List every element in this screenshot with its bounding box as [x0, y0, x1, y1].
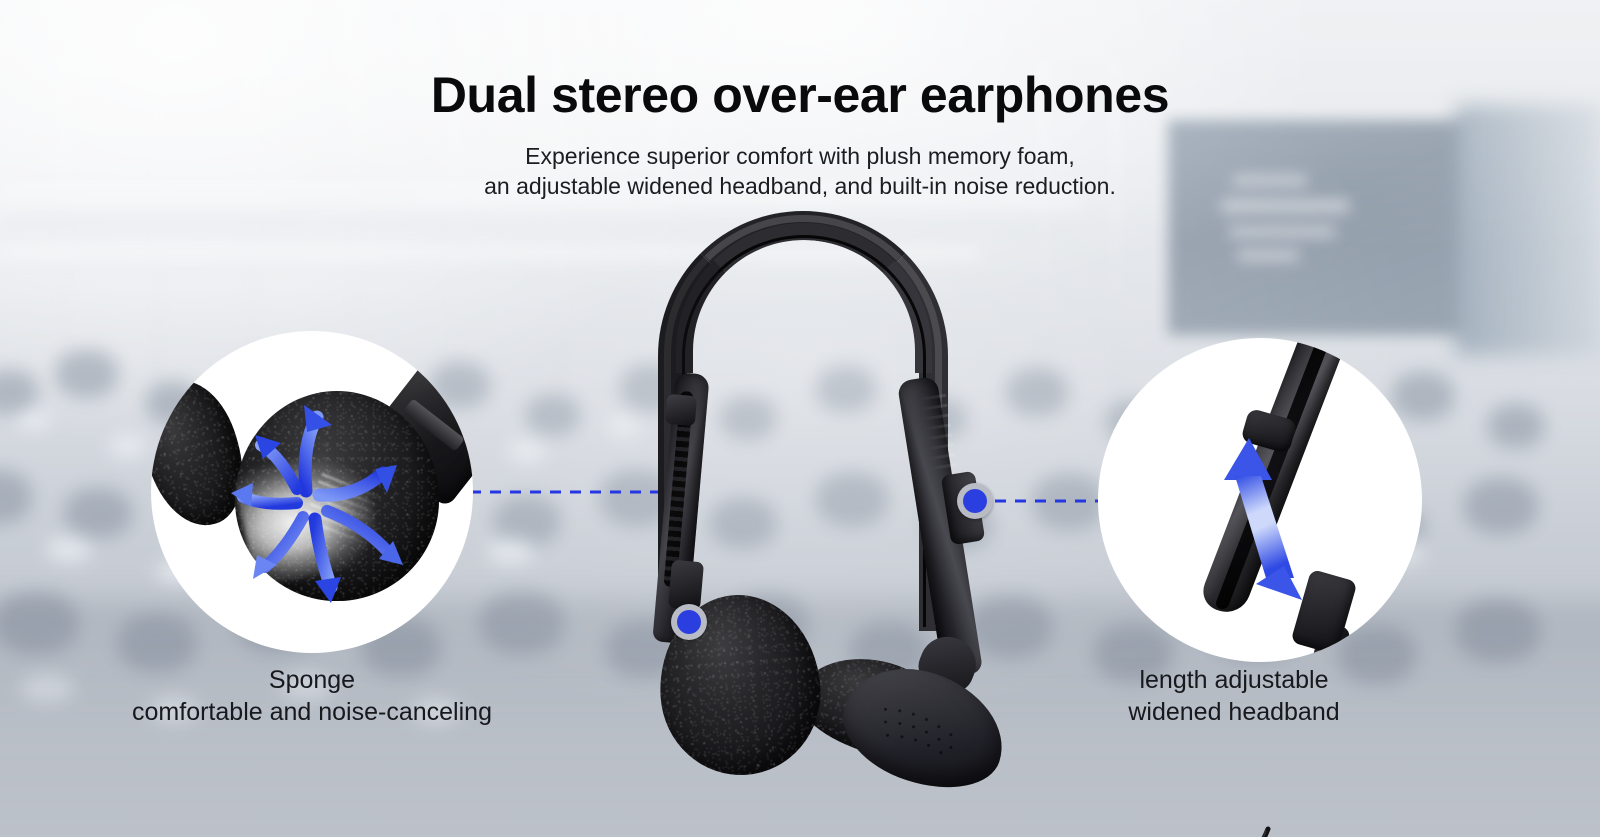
- callout-circle-headband: [1098, 338, 1422, 662]
- arrow-up-head: [1224, 438, 1272, 480]
- promo-banner: Dual stereo over-ear earphones Experienc…: [0, 0, 1600, 837]
- airflow-arrow-bottom: [315, 519, 341, 603]
- caption-headband-line-2: widened headband: [1128, 696, 1339, 728]
- airflow-arrow-right: [319, 465, 397, 495]
- airflow-arrow-bottom-left: [253, 517, 303, 579]
- arrow-down-head: [1256, 566, 1302, 600]
- airflow-arrow-top: [304, 405, 332, 491]
- caption-sponge-line-1: Sponge: [132, 664, 492, 696]
- subtitle-line-2: an adjustable widened headband, and buil…: [0, 171, 1600, 201]
- callout-circle-sponge: [151, 331, 473, 653]
- headband-seam: [682, 235, 926, 627]
- airflow-arrows: [151, 331, 473, 653]
- arrow-shaft: [1235, 476, 1294, 578]
- headband-arm-left-clip-top: [665, 394, 698, 427]
- airflow-arrow-left: [231, 483, 297, 507]
- caption-sponge-line-2: comfortable and noise-canceling: [132, 696, 492, 728]
- caption-headband: length adjustable widened headband: [1128, 664, 1339, 728]
- airflow-arrow-top-left: [255, 435, 297, 489]
- page-title: Dual stereo over-ear earphones: [0, 66, 1600, 124]
- caption-headband-line-1: length adjustable: [1128, 664, 1339, 696]
- subtitle-line-1: Experience superior comfort with plush m…: [0, 141, 1600, 171]
- page-subtitle: Experience superior comfort with plush m…: [0, 141, 1600, 201]
- caption-sponge: Sponge comfortable and noise-canceling: [132, 664, 492, 728]
- marker-dot-earcup[interactable]: [671, 604, 707, 640]
- headset-cable: [1020, 825, 1360, 837]
- length-adjust-arrow: [1098, 338, 1422, 662]
- marker-dot-headband[interactable]: [957, 483, 993, 519]
- airflow-arrow-bottom-right: [327, 511, 403, 565]
- headband-arm-left-clip-bottom: [668, 560, 704, 611]
